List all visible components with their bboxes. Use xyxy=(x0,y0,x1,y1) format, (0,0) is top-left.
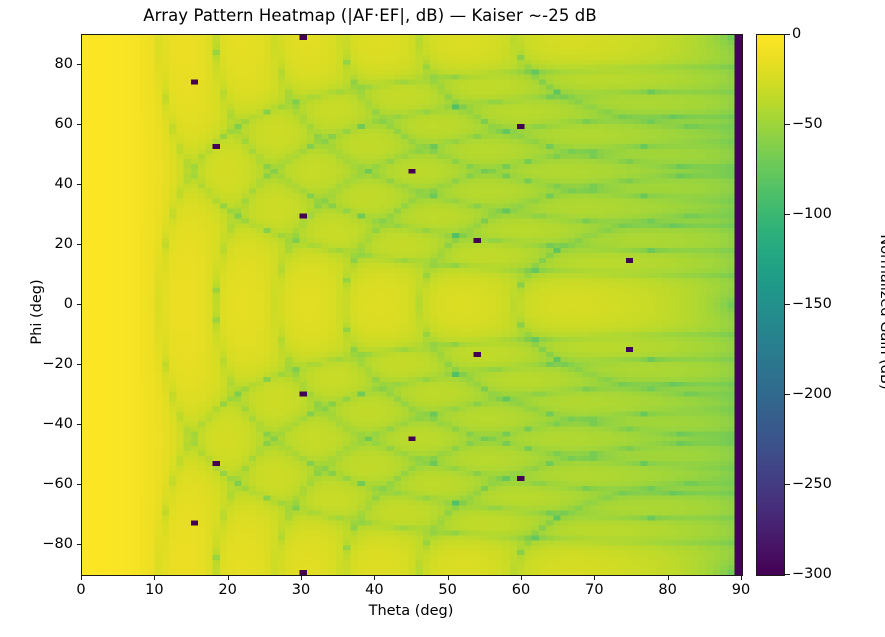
y-tick-mark xyxy=(77,544,82,545)
x-tick-mark xyxy=(521,575,522,580)
colorbar-tick-label: −300 xyxy=(792,566,832,582)
x-tick-label: 50 xyxy=(438,582,456,598)
x-tick-label: 90 xyxy=(732,582,750,598)
x-tick-mark xyxy=(228,575,229,580)
y-tick-mark xyxy=(77,64,82,65)
colorbar-gradient xyxy=(757,35,784,575)
x-tick-mark xyxy=(594,575,595,580)
y-tick-mark xyxy=(77,184,82,185)
colorbar-tick-mark xyxy=(785,394,790,395)
y-tick-label: 80 xyxy=(55,56,73,72)
x-tick-label: 80 xyxy=(658,582,676,598)
y-tick-mark xyxy=(77,364,82,365)
colorbar xyxy=(756,34,785,576)
y-tick-label: 60 xyxy=(55,116,73,132)
y-tick-label: 20 xyxy=(55,236,73,252)
y-tick-label: −60 xyxy=(42,476,73,492)
colorbar-tick-mark xyxy=(785,484,790,485)
colorbar-tick-mark xyxy=(785,574,790,575)
colorbar-tick-mark xyxy=(785,304,790,305)
y-tick-label: 40 xyxy=(55,176,73,192)
x-tick-mark xyxy=(668,575,669,580)
colorbar-tick-label: −50 xyxy=(792,116,823,132)
y-tick-label: −20 xyxy=(42,356,73,372)
chart-figure: Array Pattern Heatmap (|AF·EF|, dB) — Ka… xyxy=(0,0,885,637)
colorbar-tick-mark xyxy=(785,34,790,35)
colorbar-tick-label: 0 xyxy=(792,26,801,42)
x-tick-label: 30 xyxy=(292,582,310,598)
y-tick-mark xyxy=(77,484,82,485)
y-tick-label: −80 xyxy=(42,536,73,552)
heatmap-axes xyxy=(81,34,743,576)
y-tick-mark xyxy=(77,124,82,125)
x-tick-mark xyxy=(448,575,449,580)
x-tick-label: 20 xyxy=(218,582,236,598)
x-tick-mark xyxy=(81,575,82,580)
colorbar-tick-mark xyxy=(785,124,790,125)
x-tick-label: 60 xyxy=(512,582,530,598)
x-tick-label: 10 xyxy=(145,582,163,598)
colorbar-tick-label: −200 xyxy=(792,386,832,402)
colorbar-tick-label: −150 xyxy=(792,296,832,312)
x-tick-label: 70 xyxy=(585,582,603,598)
y-tick-mark xyxy=(77,304,82,305)
y-axis-label: Phi (deg) xyxy=(29,42,45,582)
x-tick-label: 40 xyxy=(365,582,383,598)
heatmap-image xyxy=(82,35,742,575)
x-tick-mark xyxy=(741,575,742,580)
colorbar-tick-label: −250 xyxy=(792,476,832,492)
y-tick-label: −40 xyxy=(42,416,73,432)
y-tick-mark xyxy=(77,244,82,245)
x-tick-mark xyxy=(301,575,302,580)
colorbar-tick-mark xyxy=(785,214,790,215)
y-tick-label: 0 xyxy=(64,296,73,312)
y-tick-mark xyxy=(77,424,82,425)
x-axis-label: Theta (deg) xyxy=(81,603,741,619)
x-tick-mark xyxy=(154,575,155,580)
colorbar-label: Normalized Gain (dB) xyxy=(877,42,885,582)
colorbar-tick-label: −100 xyxy=(792,206,832,222)
x-tick-label: 0 xyxy=(76,582,85,598)
chart-title: Array Pattern Heatmap (|AF·EF|, dB) — Ka… xyxy=(0,6,740,25)
x-tick-mark xyxy=(374,575,375,580)
